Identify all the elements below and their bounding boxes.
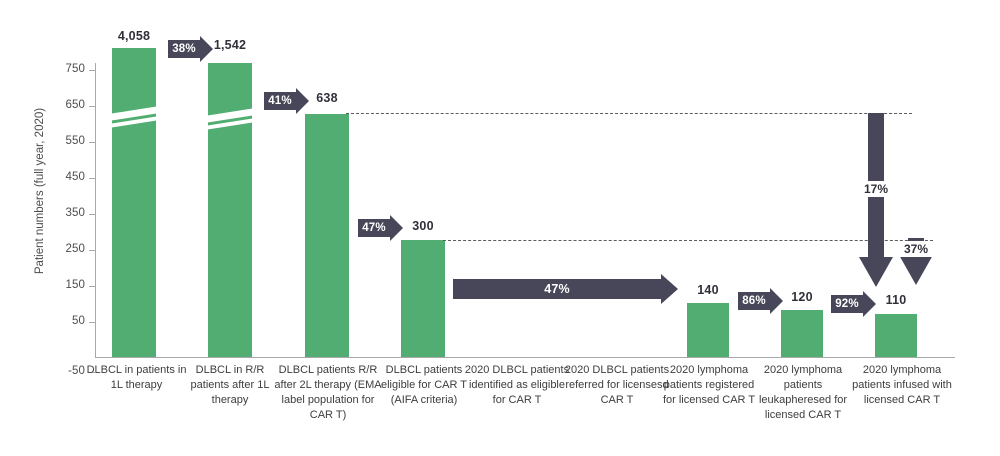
y-tick-250 (89, 250, 95, 251)
y-tick-750 (89, 70, 95, 71)
conversion-label-38: 38% (172, 43, 196, 55)
y-axis-line (95, 63, 96, 357)
y-tick-label-150: 150 (45, 279, 85, 291)
conversion-arrow-92: 92% (831, 291, 876, 317)
bar-2 (208, 63, 252, 357)
conversion-label-47-long: 47% (544, 282, 570, 296)
guide-line-638 (346, 113, 912, 114)
bar-7 (687, 303, 729, 357)
conversion-arrow-47-short: 47% (358, 215, 403, 241)
bar-value-1: 4,058 (94, 29, 174, 43)
category-label-7: 2020 lymphoma patients registered for li… (656, 363, 762, 408)
bar-8 (781, 310, 823, 357)
bar-value-7: 140 (668, 283, 748, 297)
category-label-8: 2020 lymphoma patients leukapheresed for… (752, 363, 854, 423)
category-label-9: 2020 lymphoma patients infused with lice… (847, 363, 957, 408)
y-tick-label-650: 650 (45, 99, 85, 111)
y-tick-label-550: 550 (45, 135, 85, 147)
y-tick-label-450: 450 (45, 171, 85, 183)
bar-9 (875, 314, 917, 357)
y-tick-450 (89, 178, 95, 179)
y-tick-label-250: 250 (45, 243, 85, 255)
y-tick-label-350: 350 (45, 207, 85, 219)
conversion-arrow-37-down: 37% (898, 238, 934, 286)
y-tick-350 (89, 214, 95, 215)
conversion-label-86: 86% (742, 295, 766, 307)
y-tick-650 (89, 106, 95, 107)
conversion-label-37: 37% (890, 241, 942, 257)
category-label-3: DLBCL patients R/R after 2L therapy (EMA… (272, 363, 384, 423)
conversion-label-47-short: 47% (362, 222, 386, 234)
conversion-arrow-38: 38% (168, 36, 213, 62)
category-label-1: DLBCL in patients in 1L therapy (84, 363, 189, 393)
conversion-label-92: 92% (835, 298, 859, 310)
category-label-5: 2020 DLBCL patients identified as eligib… (462, 363, 572, 408)
y-axis-title: Patient numbers (full year, 2020) (34, 91, 46, 291)
conversion-arrow-17-down: 17% (858, 113, 894, 285)
conversion-arrow-86: 86% (738, 288, 783, 314)
bar-3 (305, 114, 349, 357)
category-label-2: DLBCL in R/R patients after 1L therapy (182, 363, 278, 408)
bar-4 (401, 240, 445, 357)
y-tick-label-750: 750 (45, 63, 85, 75)
y-tick-550 (89, 142, 95, 143)
conversion-arrow-41: 41% (264, 88, 309, 114)
conversion-label-41: 41% (268, 95, 292, 107)
y-tick-label-neg50: -50 (45, 365, 85, 377)
y-tick-50 (89, 322, 95, 323)
y-tick-label-50: 50 (45, 315, 85, 327)
x-axis-line (95, 357, 955, 358)
waterfall-funnel-chart: Patient numbers (full year, 2020) 750 65… (0, 0, 1000, 456)
y-tick-150 (89, 286, 95, 287)
conversion-label-17: 17% (848, 181, 904, 197)
conversion-arrow-47-long: 47% (453, 274, 678, 304)
bar-1 (112, 48, 156, 357)
